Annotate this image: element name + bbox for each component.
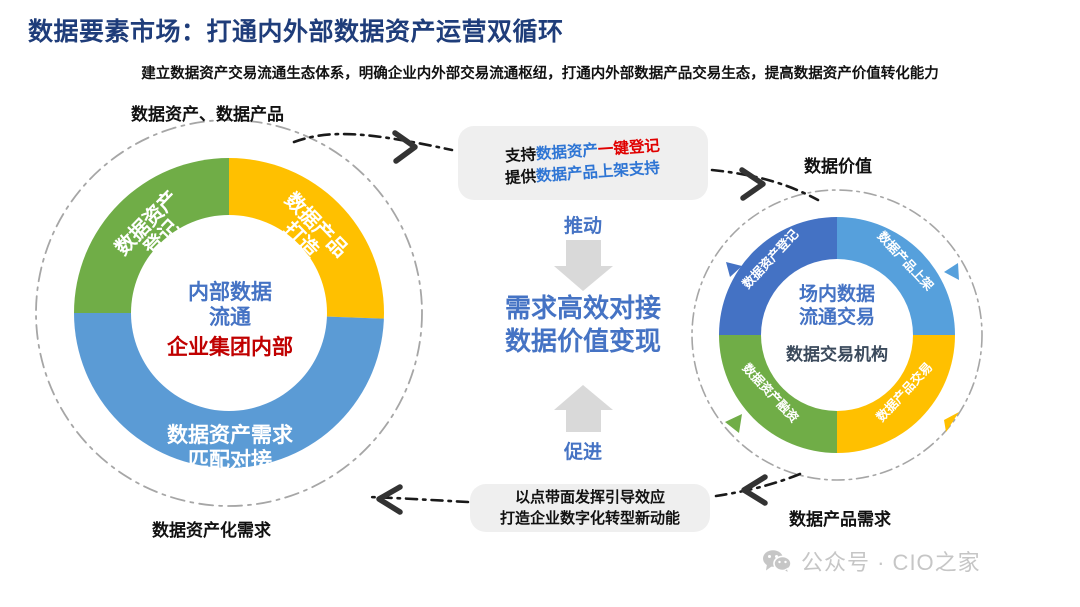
orbit-marker-tr xyxy=(944,263,959,280)
connector-bottom-right xyxy=(716,474,800,496)
arrowhead-top-left xyxy=(395,133,415,161)
arrow-up-pull xyxy=(554,385,613,432)
pill-bottom-line2: 打造企业数字化转型新动能 xyxy=(500,508,680,529)
left-segment-label-green: 数据资产 登记 xyxy=(102,177,209,285)
center-statement: 需求高效对接 数据价值变现 xyxy=(455,292,711,358)
orbit-marker-tl xyxy=(726,262,742,277)
left-center-line2: 流通 xyxy=(110,305,350,330)
left-segment-label-yellow: 数据产品 打造 xyxy=(255,179,362,287)
right-donut-center: 场内数据 流通交易 数据交易机构 xyxy=(727,283,947,365)
orbit-marker-bl xyxy=(725,414,742,433)
flow-label-bottom-right: 数据产品需求 xyxy=(789,505,891,530)
left-center-line1: 内部数据 xyxy=(110,280,350,305)
right-center-line2: 流通交易 xyxy=(727,306,947,329)
wechat-icon xyxy=(762,549,792,573)
watermark-text: 公众号 · CIO之家 xyxy=(801,545,981,577)
flow-label-bottom-left: 数据资产化需求 xyxy=(152,516,271,541)
flow-label-top-left: 数据资产、数据产品 xyxy=(131,100,284,125)
page-subtitle: 建立数据资产交易流通生态体系，明确企业内外部交易流通枢纽，打通内外部数据产品交易… xyxy=(0,62,1080,83)
statement-line1: 需求高效对接 xyxy=(455,292,711,325)
pill-top-line1-blue: 数据资产 xyxy=(536,142,599,163)
verb-pull: 促进 xyxy=(513,437,653,464)
watermark: 公众号 · CIO之家 xyxy=(762,545,981,577)
right-center-sub: 数据交易机构 xyxy=(727,340,947,365)
arrowhead-top-right xyxy=(742,170,763,198)
connector-top-left xyxy=(294,134,452,150)
arrowhead-bottom-right xyxy=(744,477,765,503)
left-donut-center: 内部数据 流通 企业集团内部 xyxy=(110,280,350,362)
pill-bottom-line1: 以点带面发挥引导效应 xyxy=(515,487,665,508)
arrowhead-bottom-left xyxy=(379,487,400,512)
left-blue-label-line1: 数据资产需求 xyxy=(134,424,326,449)
callout-pill-top: 支持数据资产一键登记 提供数据产品上架支持 xyxy=(458,126,708,200)
right-center-line1: 场内数据 xyxy=(727,283,947,306)
connector-bottom-left xyxy=(368,497,468,502)
callout-pill-bottom: 以点带面发挥引导效应 打造企业数字化转型新动能 xyxy=(470,484,710,532)
arrow-down-push xyxy=(554,240,613,291)
pill-top-line1-red: 一键登记 xyxy=(598,138,661,159)
left-blue-label-line2: 匹配对接 xyxy=(134,449,326,474)
page-title: 数据要素市场：打通内外部数据资产运营双循环 xyxy=(28,12,564,48)
orbit-marker-br xyxy=(944,412,959,432)
left-segment-label-blue: 数据资产需求 匹配对接 xyxy=(134,424,326,474)
verb-push: 推动 xyxy=(513,211,653,238)
flow-label-top-right: 数据价值 xyxy=(804,152,872,177)
pill-top-line2-prefix: 提供 xyxy=(505,168,537,187)
slide-canvas: 数据要素市场：打通内外部数据资产运营双循环 建立数据资产交易流通生态体系，明确企… xyxy=(0,0,1080,607)
left-center-highlight: 企业集团内部 xyxy=(110,334,350,361)
statement-line2: 数据价值变现 xyxy=(455,325,711,358)
connector-top-right xyxy=(712,170,818,200)
pill-top-line1-prefix: 支持 xyxy=(505,147,537,166)
